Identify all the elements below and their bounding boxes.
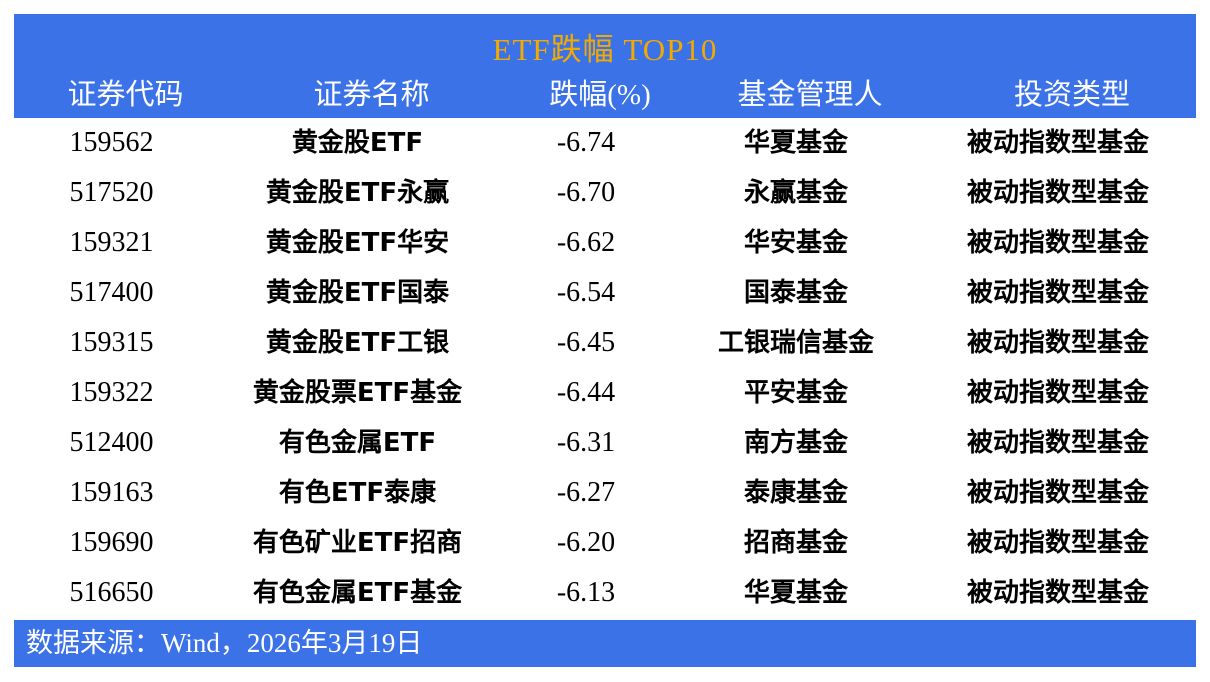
cell-fund-manager: 南方基金 — [676, 418, 916, 468]
table-row: 159690有色矿业ETF招商-6.20招商基金被动指数型基金 — [0, 518, 1210, 568]
cell-security-name: 有色ETF泰康 — [215, 468, 500, 518]
cell-decline-pct: -6.45 — [500, 318, 672, 368]
cell-invest-type: 被动指数型基金 — [920, 468, 1196, 518]
cell-security-code: 159562 — [14, 118, 209, 168]
cell-fund-manager: 华夏基金 — [676, 118, 916, 168]
cell-security-name: 黄金股票ETF基金 — [215, 368, 500, 418]
cell-security-name: 黄金股ETF永赢 — [215, 168, 500, 218]
table-row: 517520黄金股ETF永赢-6.70永赢基金被动指数型基金 — [0, 168, 1210, 218]
cell-decline-pct: -6.70 — [500, 168, 672, 218]
table-row: 516650有色金属ETF基金-6.13华夏基金被动指数型基金 — [0, 568, 1210, 618]
cell-decline-pct: -6.62 — [500, 218, 672, 268]
cell-security-name: 有色矿业ETF招商 — [215, 518, 500, 568]
cell-security-code: 159321 — [14, 218, 209, 268]
table-row: 517400黄金股ETF国泰-6.54国泰基金被动指数型基金 — [0, 268, 1210, 318]
cell-security-name: 黄金股ETF工银 — [215, 318, 500, 368]
table-row: 159562黄金股ETF-6.74华夏基金被动指数型基金 — [0, 118, 1210, 168]
cell-security-code: 516650 — [14, 568, 209, 618]
cell-fund-manager: 泰康基金 — [676, 468, 916, 518]
cell-fund-manager: 平安基金 — [676, 368, 916, 418]
table-row: 159315黄金股ETF工银-6.45工银瑞信基金被动指数型基金 — [0, 318, 1210, 368]
cell-invest-type: 被动指数型基金 — [920, 518, 1196, 568]
cell-security-code: 159690 — [14, 518, 209, 568]
column-header-invest-type: 投资类型 — [934, 74, 1210, 116]
data-source-label: 数据来源：Wind，2026年3月19日 — [26, 620, 422, 667]
cell-fund-manager: 华安基金 — [676, 218, 916, 268]
table-row: 159322黄金股票ETF基金-6.44平安基金被动指数型基金 — [0, 368, 1210, 418]
page-title: ETF跌幅 TOP10 — [14, 32, 1196, 68]
cell-security-code: 512400 — [14, 418, 209, 468]
cell-invest-type: 被动指数型基金 — [920, 418, 1196, 468]
cell-security-name: 有色金属ETF基金 — [215, 568, 500, 618]
cell-invest-type: 被动指数型基金 — [920, 268, 1196, 318]
cell-invest-type: 被动指数型基金 — [920, 168, 1196, 218]
cell-decline-pct: -6.54 — [500, 268, 672, 318]
cell-fund-manager: 永赢基金 — [676, 168, 916, 218]
cell-security-name: 黄金股ETF国泰 — [215, 268, 500, 318]
table-row: 159321黄金股ETF华安-6.62华安基金被动指数型基金 — [0, 218, 1210, 268]
cell-security-code: 159322 — [14, 368, 209, 418]
cell-security-code: 517520 — [14, 168, 209, 218]
cell-security-name: 黄金股ETF — [215, 118, 500, 168]
cell-fund-manager: 国泰基金 — [676, 268, 916, 318]
cell-fund-manager: 工银瑞信基金 — [676, 318, 916, 368]
cell-fund-manager: 华夏基金 — [676, 568, 916, 618]
cell-security-code: 159163 — [14, 468, 209, 518]
table-row: 512400有色金属ETF-6.31南方基金被动指数型基金 — [0, 418, 1210, 468]
cell-invest-type: 被动指数型基金 — [920, 568, 1196, 618]
etf-decline-top10-board: ETF跌幅 TOP10 证券代码 证券名称 跌幅(%) 基金管理人 投资类型 1… — [0, 0, 1210, 682]
cell-invest-type: 被动指数型基金 — [920, 218, 1196, 268]
column-header-fund-manager: 基金管理人 — [690, 74, 930, 116]
footer-block: 数据来源：Wind，2026年3月19日 — [14, 620, 1196, 667]
cell-security-code: 159315 — [14, 318, 209, 368]
column-header-security-code: 证券代码 — [28, 74, 223, 116]
cell-invest-type: 被动指数型基金 — [920, 118, 1196, 168]
table-body: 159562黄金股ETF-6.74华夏基金被动指数型基金517520黄金股ETF… — [0, 118, 1210, 618]
cell-decline-pct: -6.13 — [500, 568, 672, 618]
table-row: 159163有色ETF泰康-6.27泰康基金被动指数型基金 — [0, 468, 1210, 518]
column-header-security-name: 证券名称 — [229, 74, 514, 116]
cell-fund-manager: 招商基金 — [676, 518, 916, 568]
cell-security-code: 517400 — [14, 268, 209, 318]
column-header-decline-pct: 跌幅(%) — [514, 74, 686, 116]
cell-invest-type: 被动指数型基金 — [920, 318, 1196, 368]
cell-decline-pct: -6.31 — [500, 418, 672, 468]
cell-invest-type: 被动指数型基金 — [920, 368, 1196, 418]
header-block: ETF跌幅 TOP10 证券代码 证券名称 跌幅(%) 基金管理人 投资类型 — [14, 14, 1196, 118]
cell-security-name: 有色金属ETF — [215, 418, 500, 468]
cell-decline-pct: -6.27 — [500, 468, 672, 518]
cell-decline-pct: -6.74 — [500, 118, 672, 168]
table-header-row: 证券代码 证券名称 跌幅(%) 基金管理人 投资类型 — [14, 74, 1196, 116]
cell-decline-pct: -6.44 — [500, 368, 672, 418]
cell-decline-pct: -6.20 — [500, 518, 672, 568]
cell-security-name: 黄金股ETF华安 — [215, 218, 500, 268]
